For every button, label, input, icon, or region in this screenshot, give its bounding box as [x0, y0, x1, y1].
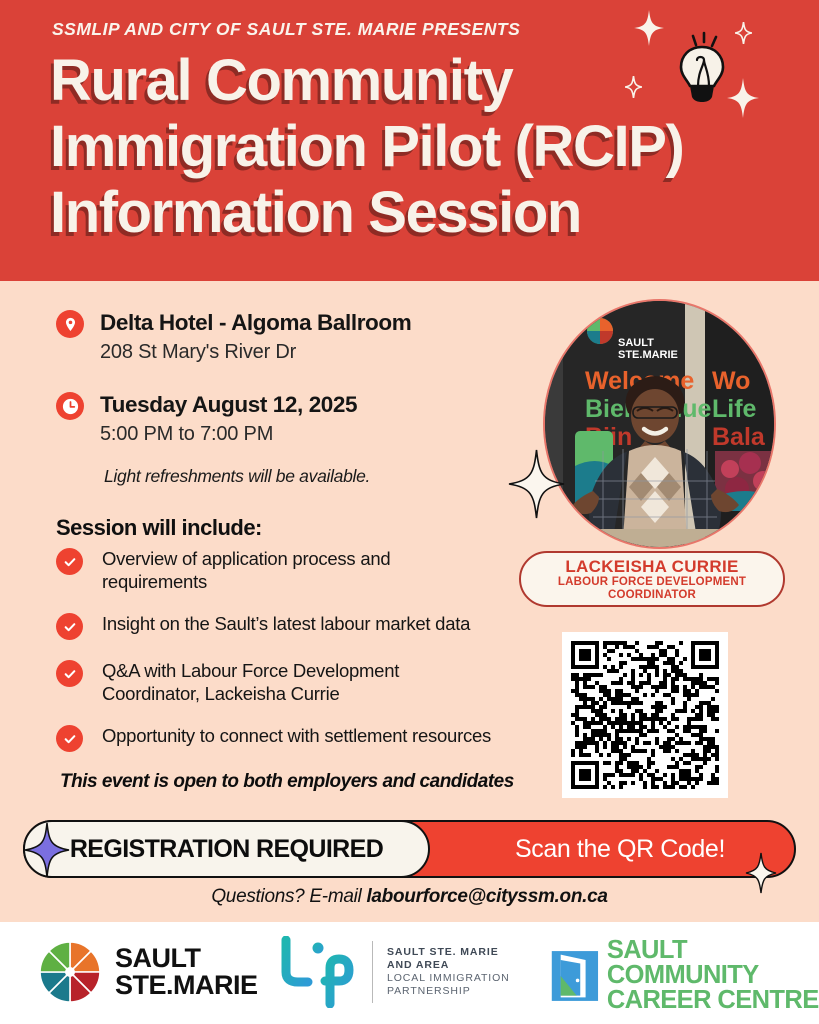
registration-bar: Scan the QR Code! REGISTRATION REQUIRED [23, 820, 796, 878]
lip-line-3: LOCAL IMMIGRATION [387, 972, 510, 985]
lip-line-1: SAULT STE. MARIE [387, 946, 510, 959]
list-item: Insight on the Sault’s latest labour mar… [56, 612, 561, 640]
poster-header: SSMLIP AND CITY OF SAULT STE. MARIE PRES… [0, 0, 819, 281]
venue-address: 208 St Mary's River Dr [100, 339, 411, 365]
lip-logo-text: SAULT STE. MARIE AND AREA LOCAL IMMIGRAT… [387, 946, 510, 998]
scc-line-2: CAREER CENTRE [607, 988, 819, 1013]
open-door-icon [550, 946, 600, 1006]
event-time: 5:00 PM to 7:00 PM [100, 421, 357, 447]
page-title: Rural Community Immigration Pilot (RCIP)… [50, 48, 750, 246]
title-line-3: Information Session [50, 180, 750, 246]
title-line-2: Immigration Pilot (RCIP) [50, 114, 750, 180]
lightbulb-icon [676, 30, 728, 104]
svg-text:Wo: Wo [712, 367, 750, 395]
list-item: Overview of application process and requ… [56, 547, 561, 593]
check-circle-icon [56, 548, 83, 575]
session-heading: Session will include: [56, 515, 262, 541]
sparkle-icon [735, 22, 752, 44]
check-circle-icon [56, 613, 83, 640]
list-item-label: Insight on the Sault’s latest labour mar… [102, 612, 470, 635]
location-detail: Delta Hotel - Algoma Ballroom 208 St Mar… [56, 310, 411, 365]
check-circle-icon [56, 660, 83, 687]
contact-line: Questions? E-mail labourforce@cityssm.on… [0, 886, 819, 908]
check-circle-icon [56, 725, 83, 752]
list-item: Q&A with Labour Force Development Coordi… [56, 659, 561, 705]
ssm-logo-line-1: SAULT [115, 945, 258, 972]
svg-text:Life: Life [712, 395, 757, 423]
ssm-logo-line-2: STE.MARIE [115, 972, 258, 999]
presents-line: SSMLIP AND CITY OF SAULT STE. MARIE PRES… [52, 19, 520, 40]
contact-email[interactable]: labourforce@cityssm.on.ca [366, 886, 607, 907]
speaker-photo: SAULT STE.MARIE Welcome Bienvenue Biin W… [543, 299, 776, 549]
event-date: Tuesday August 12, 2025 [100, 392, 357, 418]
sparkle-icon [634, 10, 664, 46]
list-item: Opportunity to connect with settlement r… [56, 724, 561, 752]
speaker-name-badge: LACKEISHA CURRIE LABOUR FORCE DEVELOPMEN… [519, 551, 785, 607]
speaker-role-line-2: COORDINATOR [608, 589, 696, 602]
list-item-label: Q&A with Labour Force Development Coordi… [102, 659, 447, 705]
sparkle-icon [625, 76, 642, 98]
registration-required-button[interactable]: REGISTRATION REQUIRED [23, 820, 430, 878]
lip-mark-icon [278, 936, 358, 1008]
scan-qr-label: Scan the QR Code! [515, 835, 725, 864]
svg-text:STE.MARIE: STE.MARIE [618, 349, 678, 361]
list-item-label: Opportunity to connect with settlement r… [102, 724, 491, 747]
sparkle-icon [508, 449, 565, 519]
map-pin-icon [56, 310, 84, 338]
sparkle-icon [24, 822, 70, 878]
lip-line-4: PARTNERSHIP [387, 985, 510, 998]
refreshments-note: Light refreshments will be available. [104, 466, 370, 487]
divider [372, 941, 373, 1003]
scc-logo-text: SAULT COMMUNITY CAREER CENTRE [607, 938, 819, 1013]
contact-prefix: Questions? E-mail [211, 886, 366, 907]
open-to-all-note: This event is open to both employers and… [60, 771, 514, 793]
ssm-flower-icon [38, 940, 102, 1004]
registration-required-label: REGISTRATION REQUIRED [70, 835, 383, 864]
lip-line-2: AND AREA [387, 959, 510, 972]
speaker-role-line-1: LABOUR FORCE DEVELOPMENT [558, 576, 746, 589]
clock-icon [56, 392, 84, 420]
qr-code[interactable] [562, 632, 728, 798]
session-list: Overview of application process and requ… [56, 547, 561, 766]
ssm-logo-text: SAULT STE.MARIE [115, 945, 258, 999]
sault-community-career-centre-logo: SAULT COMMUNITY CAREER CENTRE [550, 938, 819, 1013]
svg-text:Bala: Bala [712, 423, 766, 451]
sault-ste-marie-logo: SAULT STE.MARIE [38, 940, 258, 1004]
sparkle-icon [745, 852, 777, 894]
lip-logo: SAULT STE. MARIE AND AREA LOCAL IMMIGRAT… [278, 936, 510, 1008]
scan-qr-label-wrap: Scan the QR Code! [445, 822, 795, 876]
list-item-label: Overview of application process and requ… [102, 547, 442, 593]
svg-text:SAULT: SAULT [618, 337, 654, 349]
scc-line-1: SAULT COMMUNITY [607, 938, 819, 988]
datetime-detail: Tuesday August 12, 2025 5:00 PM to 7:00 … [56, 392, 357, 447]
speaker-name: LACKEISHA CURRIE [565, 557, 738, 576]
poster: SSMLIP AND CITY OF SAULT STE. MARIE PRES… [0, 0, 819, 1024]
venue-name: Delta Hotel - Algoma Ballroom [100, 310, 411, 336]
title-line-1: Rural Community [50, 48, 750, 114]
sparkle-icon [727, 78, 759, 118]
